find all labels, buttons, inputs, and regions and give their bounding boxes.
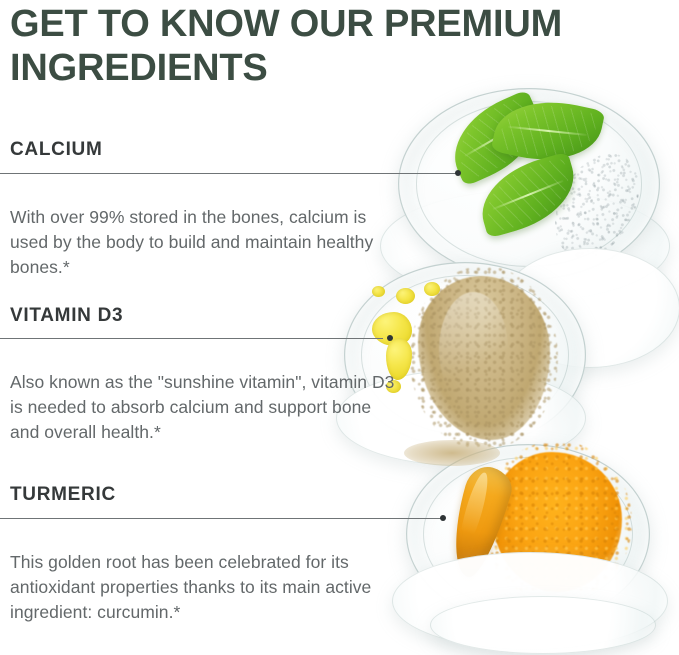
connector-dot-calcium — [455, 170, 461, 176]
ingredient-section-calcium: CALCIUM With over 99% stored in the bone… — [10, 139, 410, 280]
ingredients-infographic: GET TO KNOW OUR PREMIUM INGREDIENTS CALC… — [0, 0, 679, 655]
ingredient-title-turmeric: TURMERIC — [10, 484, 410, 506]
ingredient-title-calcium: CALCIUM — [10, 139, 410, 161]
ingredient-section-vitamin-d3: VITAMIN D3 Also known as the "sunshine v… — [10, 305, 410, 445]
ingredient-description-calcium: With over 99% stored in the bones, calci… — [10, 161, 402, 280]
ingredient-section-turmeric: TURMERIC This golden root has been celeb… — [10, 484, 410, 625]
ingredient-description-turmeric: This golden root has been celebrated for… — [10, 506, 402, 625]
ingredient-description-vitamin-d3: Also known as the "sunshine vitamin", vi… — [10, 327, 402, 445]
ingredient-title-vitamin-d3: VITAMIN D3 — [10, 305, 410, 327]
content-layer: GET TO KNOW OUR PREMIUM INGREDIENTS CALC… — [0, 0, 679, 655]
page-title: GET TO KNOW OUR PREMIUM INGREDIENTS — [10, 2, 650, 90]
connector-dot-turmeric — [440, 515, 446, 521]
